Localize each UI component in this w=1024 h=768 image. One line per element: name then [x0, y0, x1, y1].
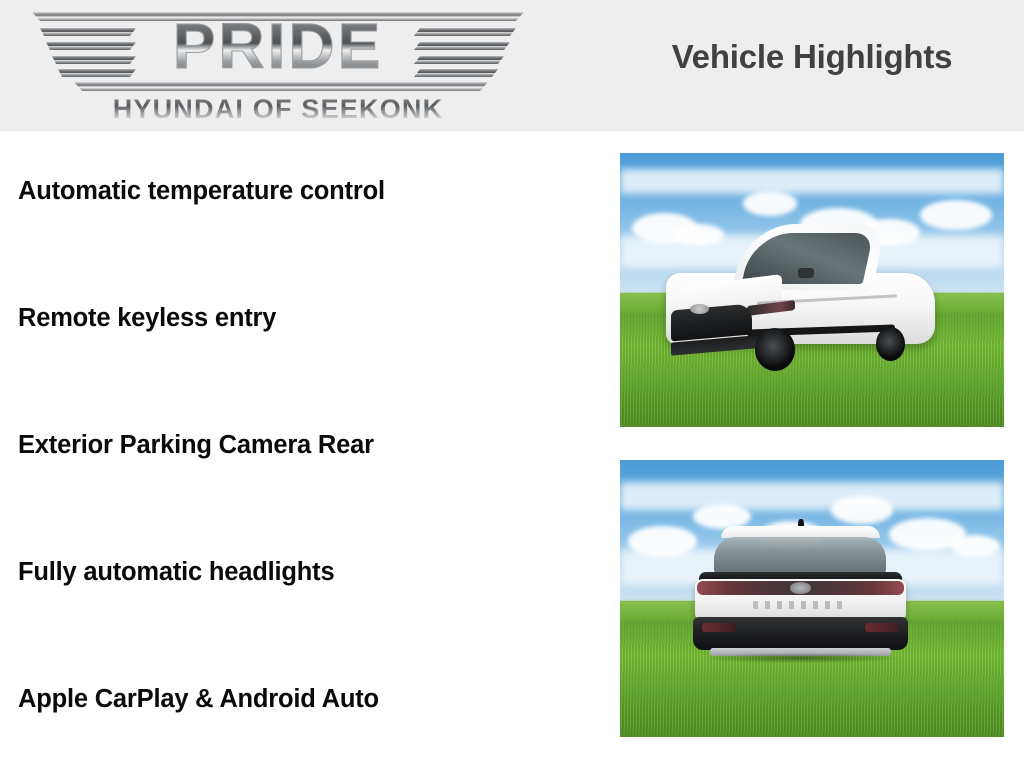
- hyundai-emblem-icon: [690, 304, 709, 314]
- car-rear-window: [714, 537, 886, 575]
- car-front-wheel: [755, 328, 795, 371]
- cloud: [831, 496, 892, 524]
- photo-scene-front: [620, 153, 1004, 427]
- cloud-band: [620, 482, 1004, 510]
- cloud-band: [620, 169, 1004, 194]
- feature-item-2: Remote keyless entry: [18, 301, 578, 335]
- car-rear-reflector-left: [702, 623, 736, 632]
- dealer-subtitle: HYUNDAI OF SEEKONK: [18, 94, 538, 125]
- pride-winged-logo-icon: PRIDE: [18, 6, 538, 94]
- features-list: Automatic temperature control Remote key…: [0, 131, 600, 768]
- car-front-view: [666, 224, 935, 366]
- car-rear-reflector-right: [865, 623, 899, 632]
- car-rear-bumper: [693, 617, 908, 649]
- feature-item-5: Apple CarPlay & Android Auto: [18, 682, 578, 716]
- feature-item-4: Fully automatic headlights: [18, 555, 578, 589]
- photo-scene-rear: [620, 460, 1004, 737]
- cloud: [628, 526, 697, 556]
- page-title: Vehicle Highlights: [620, 38, 1004, 76]
- car-rear-view: [693, 526, 908, 673]
- svg-text:PRIDE: PRIDE: [173, 10, 384, 82]
- car-rear-wheel: [876, 327, 906, 361]
- vehicle-photo-front[interactable]: [620, 153, 1004, 427]
- car-side-mirror: [798, 268, 814, 278]
- hyundai-emblem-icon: [790, 582, 812, 594]
- cloud: [743, 191, 797, 216]
- dealer-logo[interactable]: PRIDE HYUNDAI OF SEEKONK: [18, 6, 538, 128]
- elantra-wordmark: [753, 601, 848, 608]
- cloud: [950, 535, 1000, 557]
- feature-item-3: Exterior Parking Camera Rear: [18, 428, 578, 462]
- car-ground-shadow: [702, 653, 900, 663]
- vehicle-photo-rear[interactable]: [620, 460, 1004, 737]
- feature-item-1: Automatic temperature control: [18, 174, 578, 208]
